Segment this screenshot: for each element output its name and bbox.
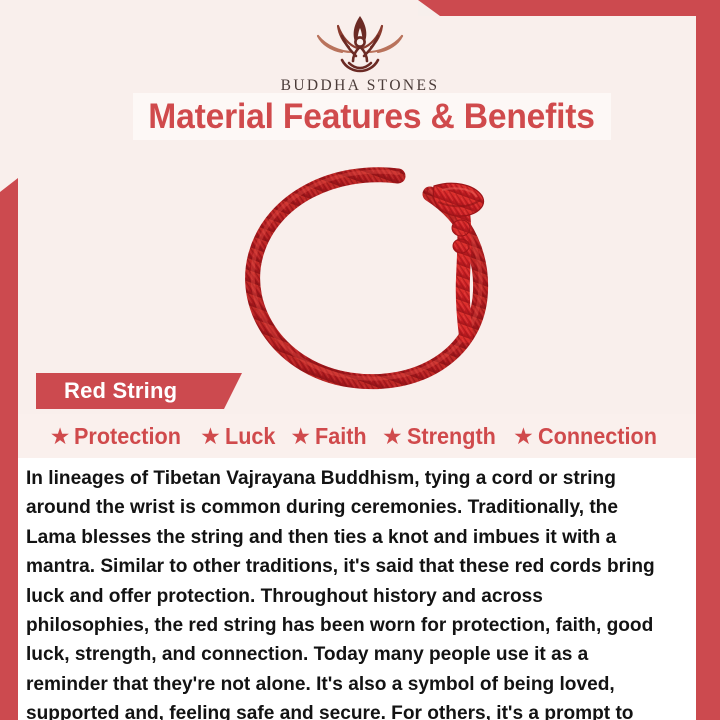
left-red-accent-band [0, 178, 18, 720]
benefit-label: Faith [315, 423, 367, 450]
star-icon: ★ [290, 425, 311, 448]
benefit-label: Protection [74, 423, 181, 450]
benefit-item-faith: ★ Faith [290, 423, 370, 450]
product-name-label: Red String [64, 378, 177, 404]
benefit-label: Connection [538, 423, 657, 450]
benefit-item-strength: ★ Strength [382, 423, 501, 450]
right-red-accent-band [696, 0, 720, 720]
page-title: Material Features & Benefits [149, 97, 596, 137]
product-photo [18, 150, 696, 400]
description-panel: In lineages of Tibetan Vajrayana Buddhis… [18, 458, 696, 720]
brand-logo: BUDDHA STONES [0, 12, 720, 95]
benefit-label: Luck [225, 423, 275, 450]
star-icon: ★ [513, 425, 534, 448]
benefit-item-protection: ★ Protection [50, 423, 188, 450]
description-text: In lineages of Tibetan Vajrayana Buddhis… [26, 464, 658, 720]
red-braided-string-bracelet-icon [230, 158, 520, 398]
lotus-meditation-icon [302, 12, 418, 74]
infographic-page: BUDDHA STONES Material Features & Benefi… [0, 0, 720, 720]
benefit-label: Strength [407, 423, 496, 450]
star-icon: ★ [200, 425, 221, 448]
star-icon: ★ [382, 425, 403, 448]
benefits-list: ★ Protection ★ Luck ★ Faith ★ Strength ★… [18, 414, 696, 458]
benefit-item-luck: ★ Luck [200, 423, 278, 450]
product-name-banner: Red String [36, 373, 242, 409]
title-banner: Material Features & Benefits [133, 93, 611, 140]
benefit-item-connection: ★ Connection [513, 423, 664, 450]
star-icon: ★ [50, 425, 71, 448]
